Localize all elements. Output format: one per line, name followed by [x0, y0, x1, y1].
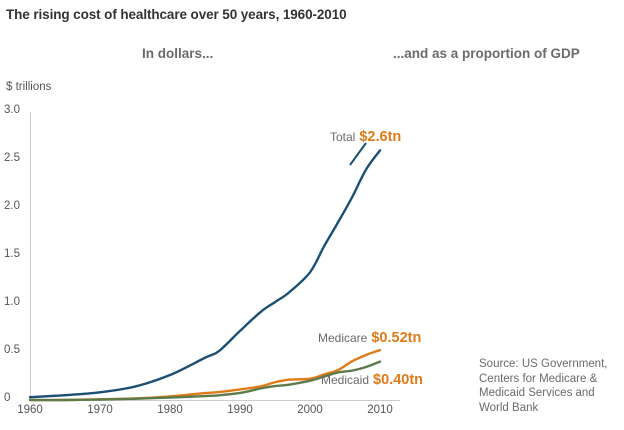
y-tick-label: 1.0	[4, 296, 30, 308]
annotation-total-value: $2.6tn	[359, 129, 401, 145]
x-tick-label: 2000	[287, 404, 333, 416]
y-tick-label: 0.5	[4, 344, 30, 356]
y-tick-label: 3.0	[4, 104, 30, 116]
annotation-medicare-value: $0.52tn	[371, 330, 421, 346]
x-tick-label: 1960	[7, 404, 53, 416]
annotation-total: Total$2.6tn	[330, 128, 401, 146]
series-line-total	[30, 150, 380, 397]
annotation-medicaid-name: Medicaid	[321, 373, 369, 387]
annotation-medicare: Medicare$0.52tn	[318, 329, 421, 347]
total-leader-line	[350, 143, 366, 165]
y-tick-label: 2.0	[4, 200, 30, 212]
annotation-medicaid: Medicaid$0.40tn	[321, 371, 423, 389]
source-line-3: Medicaid Services and	[479, 386, 621, 401]
x-tick-label: 2010	[357, 404, 403, 416]
y-tick-label: 0	[4, 392, 30, 404]
source-line-1: Source: US Government,	[479, 357, 621, 372]
y-axis-tick-labels: 00.51.01.52.02.53.0	[0, 0, 30, 430]
annotation-total-name: Total	[330, 130, 355, 144]
y-tick-label: 2.5	[4, 152, 30, 164]
annotation-medicare-name: Medicare	[318, 331, 367, 345]
series-paths	[30, 150, 380, 400]
x-tick-label: 1990	[217, 404, 263, 416]
source-line-4: World Bank	[479, 401, 621, 416]
y-tick-label: 1.5	[4, 248, 30, 260]
source-note: Source: US Government, Centers for Medic…	[479, 357, 621, 415]
source-line-2: Centers for Medicare &	[479, 372, 621, 387]
x-tick-label: 1970	[77, 404, 123, 416]
annotation-medicaid-value: $0.40tn	[373, 372, 423, 388]
x-tick-label: 1980	[147, 404, 193, 416]
